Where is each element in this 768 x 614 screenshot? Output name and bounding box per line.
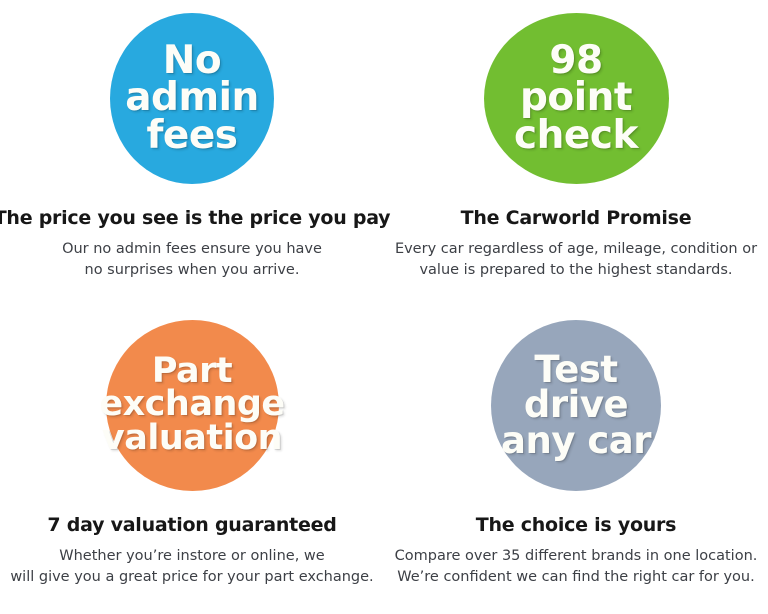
- badge-wrapper: No admin fees: [0, 0, 384, 196]
- badge-line-3: valuation: [99, 422, 284, 456]
- card-body-line-2: value is prepared to the highest standar…: [395, 260, 757, 281]
- badge-circle-part-exchange-valuation: Part exchange valuation: [106, 320, 279, 491]
- feature-card-98-point-check: 98 point check The Carworld Promise Ever…: [384, 0, 768, 307]
- badge-wrapper: Part exchange valuation: [0, 307, 384, 503]
- card-body-line-2: will give you a great price for your par…: [10, 567, 373, 588]
- badge-line-3: any car: [501, 423, 651, 459]
- badge-line-3: check: [514, 117, 638, 154]
- card-heading: The Carworld Promise: [453, 208, 700, 230]
- card-body: Our no admin fees ensure you have no sur…: [56, 239, 328, 281]
- feature-card-no-admin-fees: No admin fees The price you see is the p…: [0, 0, 384, 307]
- badge-wrapper: 98 point check: [384, 0, 768, 196]
- card-body: Every car regardless of age, mileage, co…: [389, 239, 763, 281]
- badge-line-2: point: [514, 79, 638, 116]
- card-body-line-1: Whether you’re instore or online, we: [10, 546, 373, 567]
- card-heading: The price you see is the price you pay: [0, 208, 398, 230]
- badge-line-1: 98: [514, 42, 638, 79]
- card-body-line-1: Our no admin fees ensure you have: [62, 239, 322, 260]
- feature-grid: No admin fees The price you see is the p…: [0, 0, 768, 614]
- badge-line-2: exchange: [99, 388, 284, 422]
- card-heading: 7 day valuation guaranteed: [39, 515, 344, 537]
- feature-card-part-exchange-valuation: Part exchange valuation 7 day valuation …: [0, 307, 384, 614]
- badge-line-2: drive: [501, 387, 651, 423]
- badge-line-1: Part: [99, 355, 284, 389]
- badge-line-1: Test: [501, 352, 651, 388]
- badge-text: No admin fees: [125, 42, 259, 154]
- badge-circle-98-point-check: 98 point check: [484, 13, 669, 184]
- card-body-line-1: Every car regardless of age, mileage, co…: [395, 239, 757, 260]
- badge-line-2: admin: [125, 79, 259, 116]
- card-heading: The choice is yours: [468, 515, 684, 537]
- badge-circle-no-admin-fees: No admin fees: [110, 13, 274, 184]
- badge-text: Part exchange valuation: [99, 355, 284, 456]
- badge-circle-test-drive-any-car: Test drive any car: [491, 320, 661, 491]
- feature-card-test-drive-any-car: Test drive any car The choice is yours C…: [384, 307, 768, 614]
- card-body: Compare over 35 different brands in one …: [389, 546, 764, 588]
- badge-text: Test drive any car: [501, 352, 651, 459]
- badge-line-3: fees: [125, 117, 259, 154]
- card-body-line-2: We’re confident we can find the right ca…: [395, 567, 758, 588]
- card-body-line-2: no surprises when you arrive.: [62, 260, 322, 281]
- badge-line-1: No: [125, 42, 259, 79]
- badge-wrapper: Test drive any car: [384, 307, 768, 503]
- card-body: Whether you’re instore or online, we wil…: [4, 546, 379, 588]
- card-body-line-1: Compare over 35 different brands in one …: [395, 546, 758, 567]
- badge-text: 98 point check: [514, 42, 638, 154]
